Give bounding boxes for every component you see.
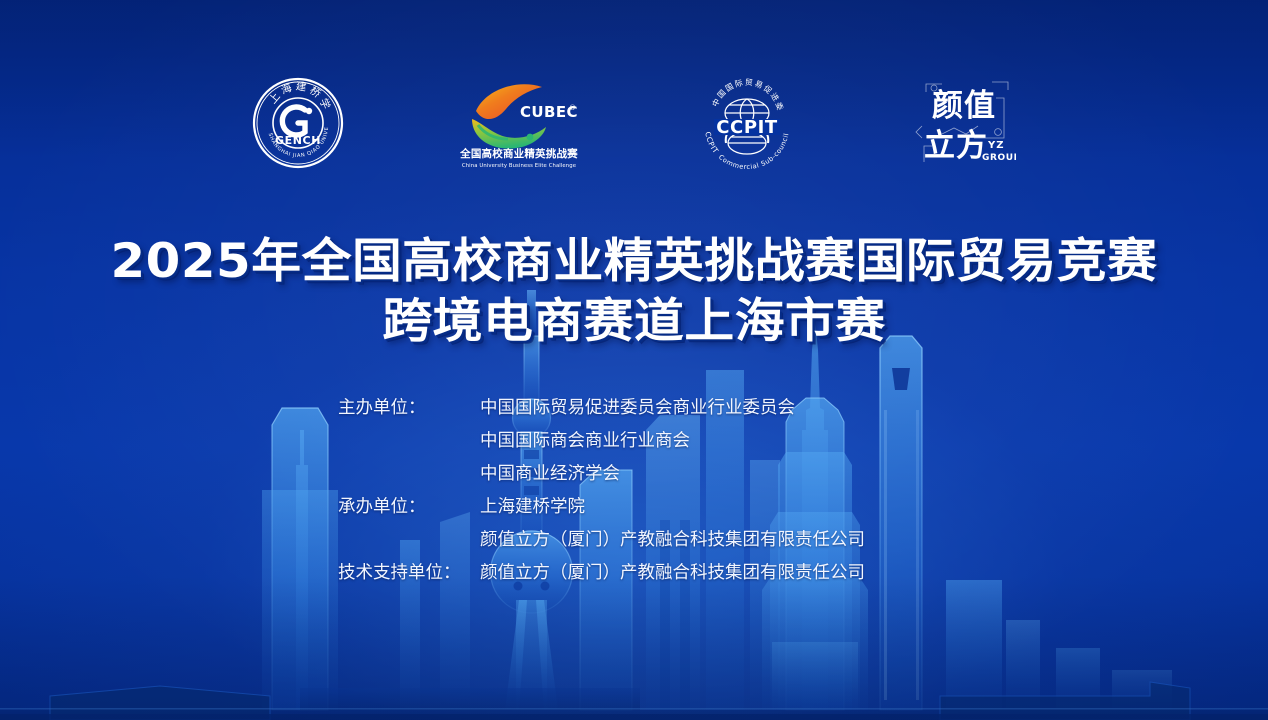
credit-row: 承办单位： 上海建桥学院 bbox=[338, 491, 958, 524]
svg-text:中国国际贸易促进委员会: 中国国际贸易促进委员会 bbox=[694, 71, 786, 113]
credit-label: 承办单位： bbox=[338, 491, 480, 524]
credit-row: 技术支持单位： 颜值立方（厦门）产教融合科技集团有限责任公司 bbox=[338, 557, 958, 590]
ccpit-abbr: CCPIT bbox=[716, 117, 778, 138]
gench-monogram bbox=[282, 107, 312, 135]
credit-value: 上海建桥学院 bbox=[480, 491, 585, 524]
organizer-credits: 主办单位： 中国国际贸易促进委员会商业行业委员会 中国国际商会商业行业商会 中国… bbox=[338, 392, 958, 590]
gench-university-logo: 上海建桥学院 SHANGHAI JIAN QIAO UNIVERSITY GEN… bbox=[252, 77, 344, 169]
title-line-1: 2025年全国高校商业精英挑战赛国际贸易竞赛 bbox=[0, 234, 1268, 290]
poster-canvas: 上海建桥学院 SHANGHAI JIAN QIAO UNIVERSITY GEN… bbox=[0, 0, 1268, 720]
credit-value: 颜值立方（厦门）产教融合科技集团有限责任公司 bbox=[480, 557, 865, 590]
credit-value: 中国国际商会商业行业商会 bbox=[480, 425, 690, 458]
credit-label: 主办单位： bbox=[338, 392, 480, 425]
yz-en-group: GROUP bbox=[982, 153, 1016, 163]
ccpit-cn-ring: 中国国际贸易促进委员会 bbox=[694, 71, 786, 113]
credit-value: 中国国际贸易促进委员会商业行业委员会 bbox=[480, 392, 795, 425]
ccpit-en-ring-right: Commercial Sub-council bbox=[717, 132, 791, 171]
credit-row: 中国国际商会商业行业商会 bbox=[338, 425, 958, 458]
yz-cn-line1: 颜值 bbox=[932, 88, 996, 124]
credit-row: 主办单位： 中国国际贸易促进委员会商业行业委员会 bbox=[338, 392, 958, 425]
ccpit-logo: 中国国际贸易促进委员会 CCPIT Commercial Sub-council bbox=[694, 71, 800, 175]
yz-group-logo: 颜值 立方 YZ GROUP bbox=[912, 76, 1016, 170]
cubec-en-name: China University Business Elite Challeng… bbox=[462, 163, 576, 169]
svg-text:Commercial Sub-council: Commercial Sub-council bbox=[717, 132, 791, 171]
sponsor-logo-row: 上海建桥学院 SHANGHAI JIAN QIAO UNIVERSITY GEN… bbox=[0, 68, 1268, 178]
cubec-logo: CUBEC ® 全国高校商业精英挑战赛 China University Bus… bbox=[456, 75, 582, 171]
yz-en-abbr: YZ bbox=[987, 140, 1005, 151]
credit-label: 技术支持单位： bbox=[338, 557, 480, 590]
poster-title: 2025年全国高校商业精英挑战赛国际贸易竞赛 跨境电商赛道上海市赛 bbox=[0, 234, 1268, 350]
credit-row: 颜值立方（厦门）产教融合科技集团有限责任公司 bbox=[338, 524, 958, 557]
title-line-2: 跨境电商赛道上海市赛 bbox=[0, 294, 1268, 350]
credit-row: 中国商业经济学会 bbox=[338, 458, 958, 491]
cubec-cn-name: 全国高校商业精英挑战赛 bbox=[459, 147, 578, 160]
gench-abbr: GENCH bbox=[275, 134, 321, 147]
yz-cn-line2: 立方 bbox=[924, 128, 988, 164]
cubec-registered-mark: ® bbox=[569, 104, 576, 112]
credit-value: 颜值立方（厦门）产教融合科技集团有限责任公司 bbox=[480, 524, 865, 557]
credit-value: 中国商业经济学会 bbox=[480, 458, 620, 491]
